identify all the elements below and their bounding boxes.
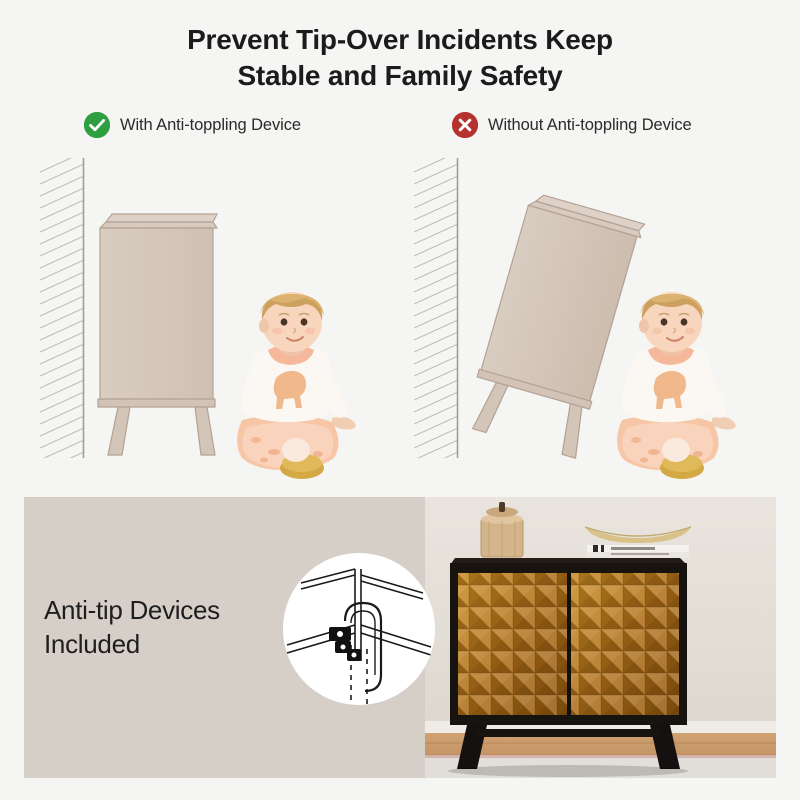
wall-hatching xyxy=(414,152,458,472)
panel-caption-line-1: Anti-tip Devices xyxy=(44,593,304,627)
comparison-caption-with-device: With Anti-toppling Device xyxy=(84,112,301,138)
page-title: Prevent Tip-Over Incidents Keep Stable a… xyxy=(0,22,800,94)
panel-caption-line-2: Included xyxy=(44,627,304,661)
seated-toddler xyxy=(617,292,736,479)
cabinet-tipping xyxy=(463,191,645,458)
wood-canister-decor xyxy=(481,502,523,557)
illustration-with-anti-toppling-device xyxy=(0,150,400,480)
wall-hatching xyxy=(40,152,84,472)
anti-tip-bracket-inset xyxy=(283,553,435,705)
product-infographic-page: Prevent Tip-Over Incidents Keep Stable a… xyxy=(0,0,800,800)
x-circle-icon xyxy=(452,112,478,138)
caption-label-with-device: With Anti-toppling Device xyxy=(120,116,301,135)
comparison-caption-without-device: Without Anti-toppling Device xyxy=(452,112,692,138)
check-circle-icon xyxy=(84,112,110,138)
cabinet-product-photo xyxy=(425,497,776,778)
illustration-without-anti-toppling-device xyxy=(400,150,800,480)
title-line-1: Prevent Tip-Over Incidents Keep xyxy=(0,22,800,58)
seated-toddler xyxy=(237,292,356,479)
caption-label-without-device: Without Anti-toppling Device xyxy=(488,116,692,135)
title-line-2: Stable and Family Safety xyxy=(0,58,800,94)
panel-caption: Anti-tip Devices Included xyxy=(44,593,304,661)
stacked-books-decor xyxy=(587,545,689,558)
cabinet-upright xyxy=(98,214,217,455)
